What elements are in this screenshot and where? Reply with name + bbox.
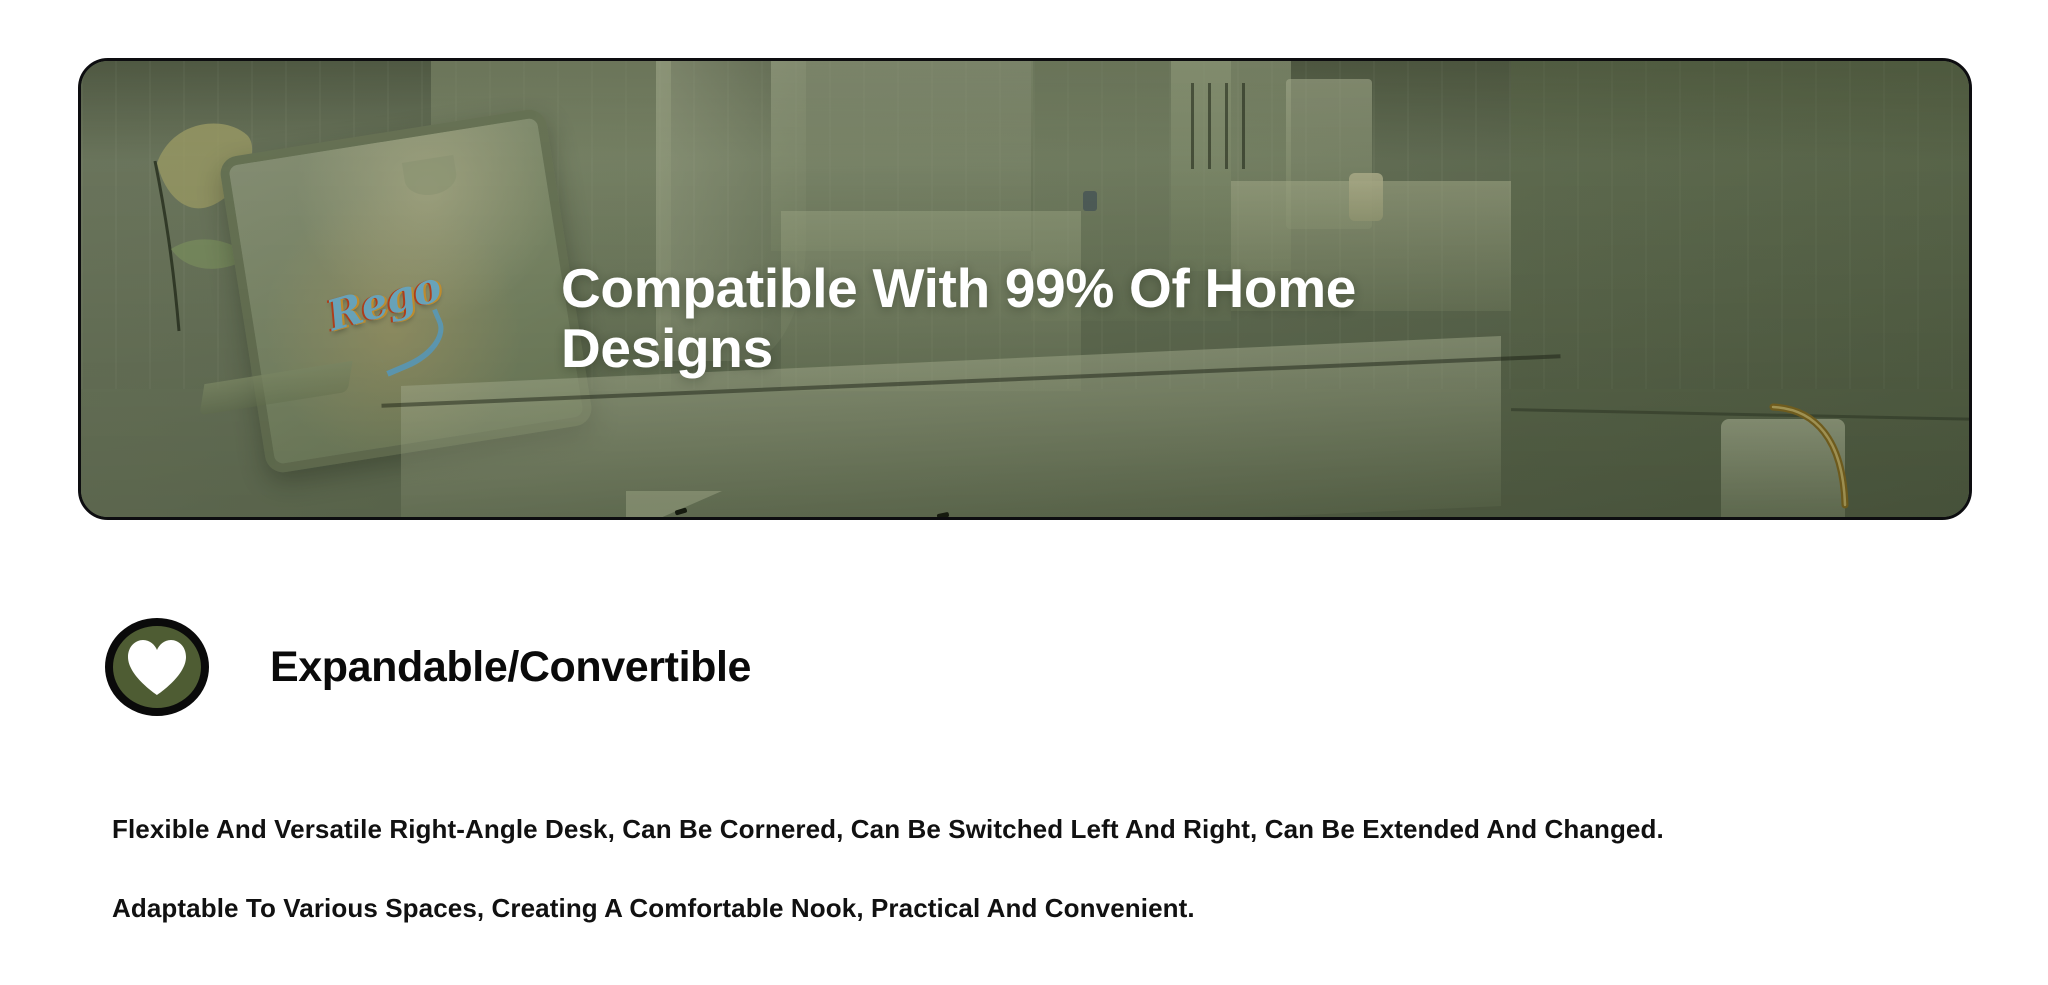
hero-headline: Compatible With 99% Of Home Designs (561, 258, 1461, 379)
feature-description: Flexible And Versatile Right-Angle Desk,… (112, 786, 1912, 952)
feature-title: Expandable/Convertible (270, 643, 751, 692)
description-line: Flexible And Versatile Right-Angle Desk,… (112, 812, 1912, 847)
product-feature-page: Rego Compatible With 99% Of Home Designs (0, 0, 2048, 985)
heart-in-circle-glyph (104, 618, 210, 716)
description-line: Adaptable To Various Spaces, Creating A … (112, 891, 1912, 926)
heart-in-circle-icon (104, 618, 210, 716)
hero-banner: Rego Compatible With 99% Of Home Designs (78, 58, 1972, 520)
feature-heading-row: Expandable/Convertible (0, 612, 2048, 722)
